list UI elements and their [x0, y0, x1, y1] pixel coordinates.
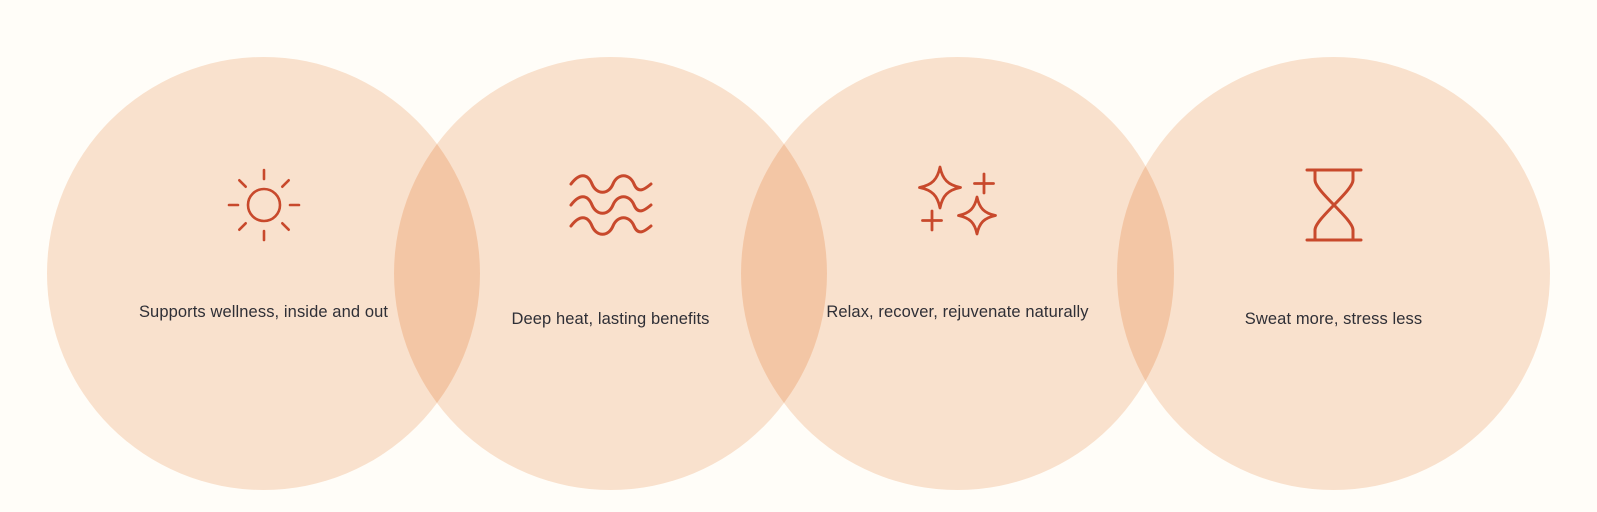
- benefit-label: Relax, recover, rejuvenate naturally: [813, 299, 1103, 325]
- hourglass-icon: [1286, 157, 1382, 253]
- sparkles-icon: [910, 157, 1006, 253]
- benefit-label: Sweat more, stress less: [1189, 306, 1479, 332]
- benefit-label: Supports wellness, inside and out: [119, 299, 409, 325]
- benefit-item-sweat: Sweat more, stress less: [1117, 57, 1550, 490]
- benefits-band: Supports wellness, inside and out Deep h…: [0, 0, 1597, 512]
- sun-icon: [216, 157, 312, 253]
- benefit-label: Deep heat, lasting benefits: [466, 306, 756, 332]
- benefits-content-layer: Supports wellness, inside and out Deep h…: [0, 0, 1597, 512]
- heat-waves-icon: [563, 157, 659, 253]
- benefit-item-relax: Relax, recover, rejuvenate naturally: [741, 57, 1174, 490]
